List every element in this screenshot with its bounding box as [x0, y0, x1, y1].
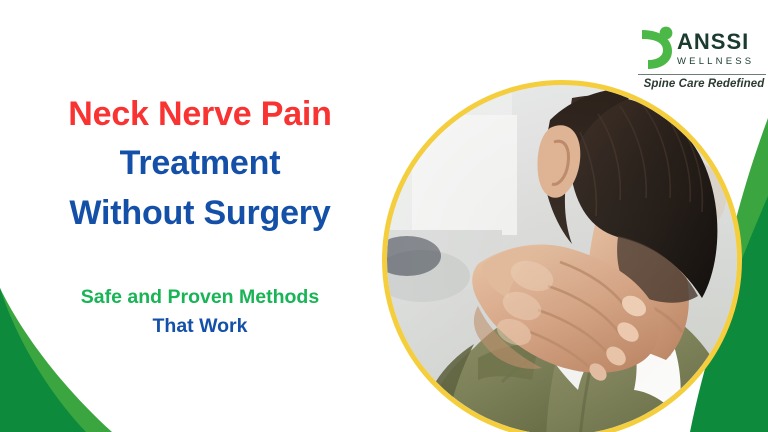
- headline-line-2: Treatment: [24, 139, 376, 188]
- headline-line-3: Without Surgery: [24, 189, 376, 238]
- logo-brand-name: ANSSI: [677, 31, 754, 53]
- subheadline-block: Safe and Proven Methods That Work: [24, 283, 376, 342]
- subheadline-line-1: Safe and Proven Methods: [24, 283, 376, 312]
- logo-tagline: Spine Care Redefined: [640, 78, 768, 90]
- logo-divider-rule: [638, 74, 766, 75]
- headline-line-1: Neck Nerve Pain: [24, 90, 376, 139]
- promo-banner: Neck Nerve Pain Treatment Without Surger…: [0, 0, 768, 432]
- logo-wordmark: ANSSI WELLNESS: [677, 24, 754, 69]
- hero-photo-circle: [382, 80, 742, 432]
- subheadline-line-2: That Work: [24, 312, 376, 341]
- hero-photo-image: [387, 85, 737, 432]
- anssi-crescent-logo-icon: [636, 24, 676, 72]
- logo-brand-subtitle: WELLNESS: [677, 55, 754, 69]
- headline-block: Neck Nerve Pain Treatment Without Surger…: [24, 90, 376, 238]
